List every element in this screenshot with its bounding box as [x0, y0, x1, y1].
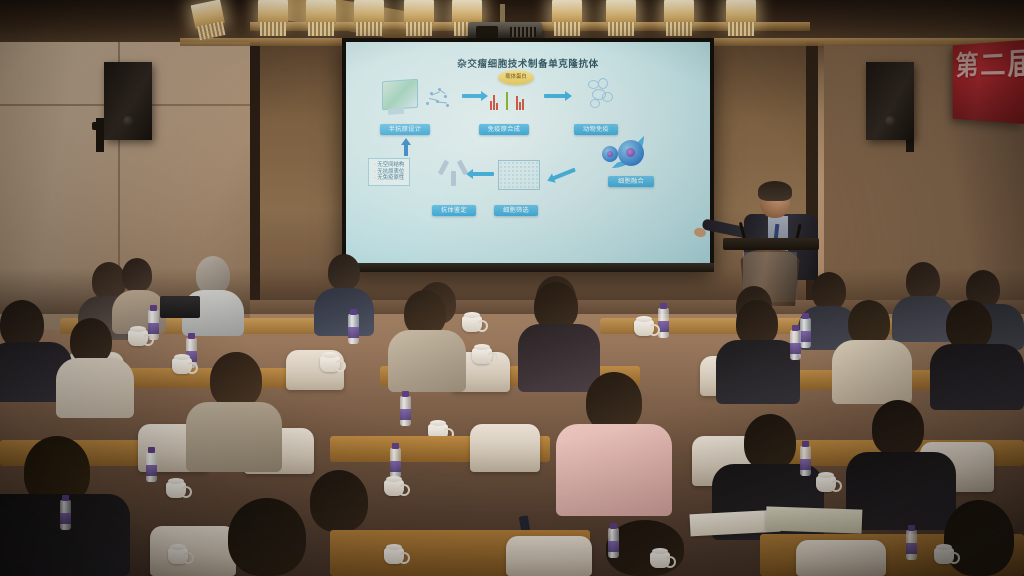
bullet-item: 无抗原表位: [374, 169, 404, 176]
audience-head: [946, 300, 992, 350]
antibody-icon: [440, 160, 466, 186]
tea-cup: [634, 320, 654, 336]
tea-cup: [650, 552, 670, 568]
water-bottle: [800, 446, 811, 476]
screening-plate-icon: [498, 160, 540, 190]
pendant-light: [404, 0, 434, 36]
bullet-item: 无空间结构: [374, 162, 404, 169]
cell-large: [618, 140, 644, 166]
water-bottle: [608, 528, 619, 558]
wall-speaker-left: [104, 62, 152, 140]
step-label-cell-screening: 细胞筛选: [494, 205, 538, 216]
audience-body: [846, 452, 956, 530]
flow-arrow-5: [472, 172, 494, 176]
audience-head: [872, 400, 924, 456]
carrier-protein-callout: 载体蛋白: [498, 70, 534, 85]
cell-small: [602, 146, 618, 162]
pendant-light: [354, 0, 384, 36]
audience-head: [534, 282, 578, 330]
audience-body: [892, 296, 954, 342]
flow-arrow-up: [404, 144, 408, 156]
chair-back: [470, 424, 540, 472]
pendant-light: [726, 0, 756, 36]
audience-head: [0, 300, 44, 348]
laptop: [160, 296, 200, 318]
flow-arrow-4: [552, 168, 576, 181]
bullet-item: 无免疫原性: [374, 175, 404, 182]
audience-head: [944, 500, 1014, 576]
water-bottle: [800, 318, 811, 348]
tea-cup: [472, 348, 492, 364]
tea-cup: [320, 356, 340, 372]
slide-title: 杂交瘤细胞技术制备单克隆抗体: [346, 56, 710, 70]
conference-room-photo: 第二届 杂交瘤细胞技术制备单克隆抗体 载体蛋白: [0, 0, 1024, 576]
tea-cup: [172, 358, 192, 374]
audience-body: [186, 402, 282, 472]
audience-head: [228, 498, 306, 576]
audience-head: [906, 262, 940, 300]
wall-speaker-right: [866, 62, 914, 140]
pendant-light: [258, 0, 288, 36]
tea-cup: [168, 548, 188, 564]
audience-body-pink-hoodie: [556, 424, 672, 516]
animal-immunization-icon: [584, 78, 618, 110]
computer-design-icon: [382, 79, 418, 111]
water-bottle: [790, 330, 801, 360]
flow-arrow-1: [462, 94, 482, 98]
tea-cup: [816, 476, 836, 492]
slide-surface: 杂交瘤细胞技术制备单克隆抗体 载体蛋白: [346, 42, 710, 267]
pendant-light: [306, 0, 336, 36]
audience-body: [832, 340, 912, 404]
flow-arrow-2: [544, 94, 566, 98]
audience-head: [812, 272, 846, 310]
tea-cup: [384, 548, 404, 564]
audience-body: [56, 358, 134, 418]
audience-body: [518, 324, 600, 392]
water-bottle: [390, 448, 401, 478]
projector-vent: [510, 27, 536, 37]
audience-body: [716, 340, 800, 404]
audience-body: [314, 288, 374, 336]
lectern-top: [723, 238, 819, 250]
step-label-antibody-identification: 抗体鉴定: [432, 205, 476, 216]
tea-cup: [384, 480, 404, 496]
tea-cup: [462, 316, 482, 332]
screen-bottom-bar: [342, 263, 714, 272]
audience-head-grey: [196, 256, 230, 294]
audience-body: [388, 330, 466, 392]
pendant-light: [606, 0, 636, 36]
audience-head: [586, 372, 642, 432]
bullet-list: 无空间结构 无抗原表位 无免疫原性: [368, 158, 410, 186]
event-banner: 第二届: [953, 40, 1024, 124]
audience-head: [744, 414, 796, 470]
step-label-animal-immunization: 动物免疫: [574, 124, 618, 135]
water-bottle: [348, 314, 359, 344]
water-bottle: [658, 308, 669, 338]
paper-notebook: [766, 506, 863, 533]
pendant-light: [664, 0, 694, 36]
immunogen-graphic: [486, 86, 528, 110]
water-bottle: [146, 452, 157, 482]
projection-screen: 杂交瘤细胞技术制备单克隆抗体 载体蛋白: [342, 38, 714, 271]
flow-arrow-curve: [612, 136, 644, 168]
audience-head: [210, 352, 262, 408]
banner-shading: [953, 40, 1024, 124]
audience-head: [328, 254, 360, 290]
chair-back: [150, 526, 236, 576]
tea-cup: [128, 330, 148, 346]
step-label-hapten-design: 半抗原设计: [380, 124, 430, 135]
chair-back: [506, 536, 592, 576]
pendant-light: [552, 0, 582, 36]
water-bottle: [906, 530, 917, 560]
wall-column-left: [250, 38, 260, 300]
tea-cup: [934, 548, 954, 564]
water-bottle: [60, 500, 71, 530]
step-label-immunogen-synthesis: 免疫原合成: [479, 124, 529, 135]
step-label-cell-fusion: 细胞融合: [608, 176, 654, 187]
audience-head: [122, 258, 152, 292]
projector-lens: [476, 26, 498, 38]
chair-back: [796, 540, 886, 576]
audience-body: [930, 344, 1024, 410]
audience-head: [310, 470, 368, 532]
water-bottle: [400, 396, 411, 426]
presenter-hair: [758, 181, 792, 201]
tea-cup: [166, 482, 186, 498]
